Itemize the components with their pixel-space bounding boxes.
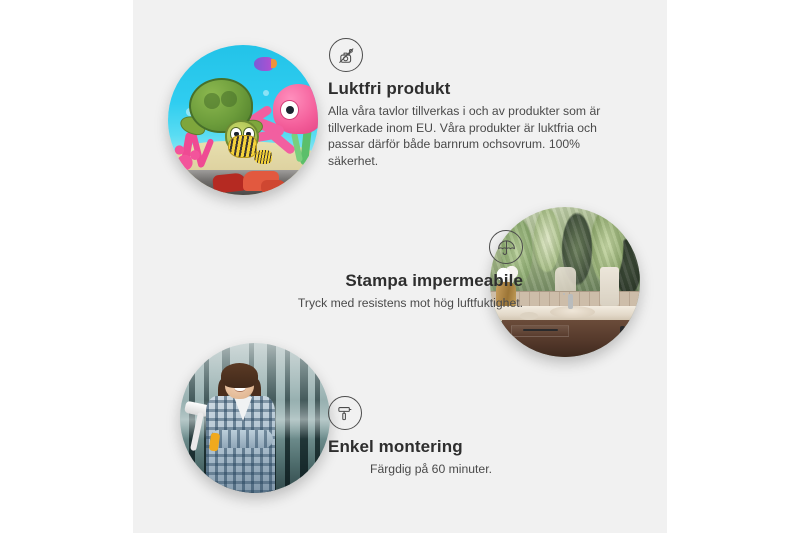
purple-fish-icon [254,57,274,71]
octopus-eye [280,100,299,120]
product-feature-infographic: Luktfri produkt Alla våra tavlor tillver… [0,0,800,533]
wooden-vanity-cabinet [502,320,640,358]
feature-icon-wrap [328,396,578,430]
feature-title: Luktfri produkt [328,79,628,99]
feature-title: Enkel montering [328,437,578,457]
soap-dish [520,312,538,320]
underwater-cartoon-circle-image [168,45,318,195]
drawer-handle [523,329,558,331]
feature-icon-wrap [193,230,523,264]
woman-hair [221,363,259,389]
feature-description: Tryck med resistens mot hög luftfuktighe… [193,295,523,312]
towel [600,267,620,306]
content-canvas: Luktfri produkt Alla våra tavlor tillver… [133,0,667,533]
feature-icon-wrap [328,38,628,72]
feature-description: Färgdig på 60 minuter. [328,461,534,478]
feature-block-odourless: Luktfri produkt Alla våra tavlor tillver… [328,38,628,169]
bubble-icon [263,90,269,96]
feature-block-waterproof: Stampa impermeabile Tryck med resistens … [193,230,523,312]
decorator-forest-circle-image [180,343,330,493]
yellow-fish-icon [254,150,272,164]
feature-block-assembly: Enkel montering Färgdig på 60 minuter. [328,396,578,478]
feature-title: Stampa impermeabile [193,271,523,291]
faucet-icon [568,294,573,309]
paint-roller-icon [328,396,362,430]
no-odour-spray-bottle-icon [329,38,363,72]
umbrella-icon [489,230,523,264]
coral-cluster [174,129,210,171]
yellow-fish-icon [228,135,257,158]
sink-basin [550,306,595,318]
feature-description: Alla våra tavlor tillverkas i och av pro… [328,103,628,169]
sea-object [212,172,247,193]
cabinet-handle [620,326,626,343]
sea-object [261,180,285,194]
